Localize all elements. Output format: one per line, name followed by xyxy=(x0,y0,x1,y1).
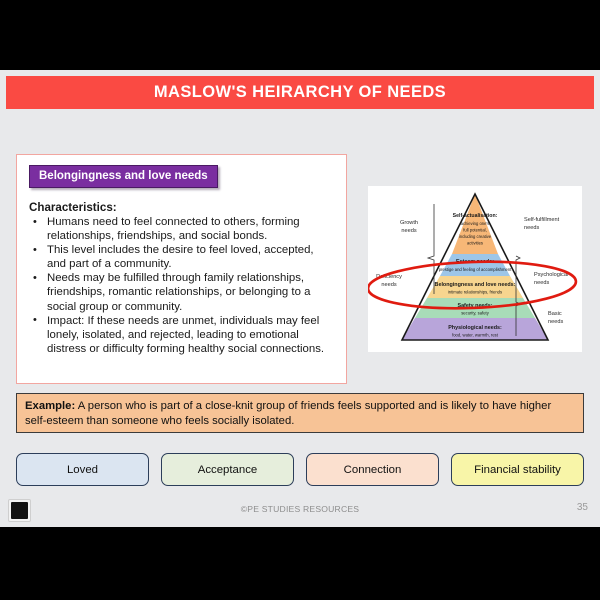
tier-sub-safety: security, safety xyxy=(461,311,490,316)
pyramid-right-label-selffulfillment-2: needs xyxy=(524,225,539,231)
maslow-pyramid-image: Self-actualisation: achieving one's full… xyxy=(368,186,582,352)
characteristics-card: Belongingness and love needs Characteris… xyxy=(16,154,347,384)
tier-sub-self-actualisation-2: full potential, xyxy=(463,228,487,233)
example-box: Example: A person who is part of a close… xyxy=(16,393,584,433)
answer-options: Loved Acceptance Connection Financial st… xyxy=(16,453,584,486)
page-title: MASLOW'S HEIRARCHY OF NEEDS xyxy=(154,83,446,102)
example-label: Example: xyxy=(25,400,75,412)
slide-footer: ©PE STUDIES RESOURCES 35 xyxy=(0,496,600,527)
answer-button-connection[interactable]: Connection xyxy=(306,453,439,486)
answer-button-financial-stability[interactable]: Financial stability xyxy=(451,453,584,486)
characteristics-heading: Characteristics: xyxy=(29,201,336,214)
slide-title-bar: MASLOW'S HEIRARCHY OF NEEDS xyxy=(6,76,594,109)
pyramid-tier-esteem xyxy=(440,254,510,276)
pyramid-left-label-deficiency-2: needs xyxy=(381,282,396,288)
pyramid-right-label-basic-1: Basic xyxy=(548,311,562,317)
page-number: 35 xyxy=(577,502,588,513)
screenshot-stage: MASLOW'S HEIRARCHY OF NEEDS Belongingnes… xyxy=(0,0,600,600)
tier-sub-self-actualisation-3: including creative xyxy=(459,234,492,239)
footer-copyright: ©PE STUDIES RESOURCES xyxy=(0,504,600,514)
example-body: A person who is part of a close-knit gro… xyxy=(25,400,551,427)
pyramid-right-label-basic-2: needs xyxy=(548,319,563,325)
status-badge: Belongingness and love needs xyxy=(29,165,218,188)
pyramid-right-label-selffulfillment-1: Self-fulfillment xyxy=(524,217,560,223)
tier-sub-self-actualisation-4: activities xyxy=(467,241,483,246)
answer-button-loved[interactable]: Loved xyxy=(16,453,149,486)
tier-title-self-actualisation: Self-actualisation: xyxy=(453,213,498,219)
list-item: This level includes the desire to feel l… xyxy=(30,243,334,271)
example-text: Example: A person who is part of a close… xyxy=(25,399,575,428)
pyramid-left-label-growth-1: Growth xyxy=(400,220,418,226)
tier-sub-belongingness: intimate relationships, friends xyxy=(448,290,502,295)
slide: MASLOW'S HEIRARCHY OF NEEDS Belongingnes… xyxy=(0,70,600,527)
tier-sub-self-actualisation-1: achieving one's xyxy=(461,221,490,226)
answer-button-acceptance[interactable]: Acceptance xyxy=(161,453,294,486)
tier-title-physiological: Physiological needs: xyxy=(448,325,502,331)
list-item: Humans need to feel connected to others,… xyxy=(30,215,334,243)
tier-sub-esteem: prestige and feeling of accomplishment xyxy=(439,267,512,272)
tier-title-belongingness: Belongingness and love needs: xyxy=(435,282,516,288)
pyramid-right-label-psychological-1: Psychological xyxy=(534,272,568,278)
pyramid-svg: Self-actualisation: achieving one's full… xyxy=(368,186,582,352)
pyramid-left-label-growth-2: needs xyxy=(401,228,416,234)
characteristics-list: Humans need to feel connected to others,… xyxy=(27,215,336,356)
list-item: Needs may be fulfilled through family re… xyxy=(30,271,334,313)
list-item: Impact: If these needs are unmet, indivi… xyxy=(30,314,334,356)
tier-sub-physiological: food, water, warmth, rest xyxy=(452,333,499,338)
pyramid-right-label-psychological-2: needs xyxy=(534,280,549,286)
